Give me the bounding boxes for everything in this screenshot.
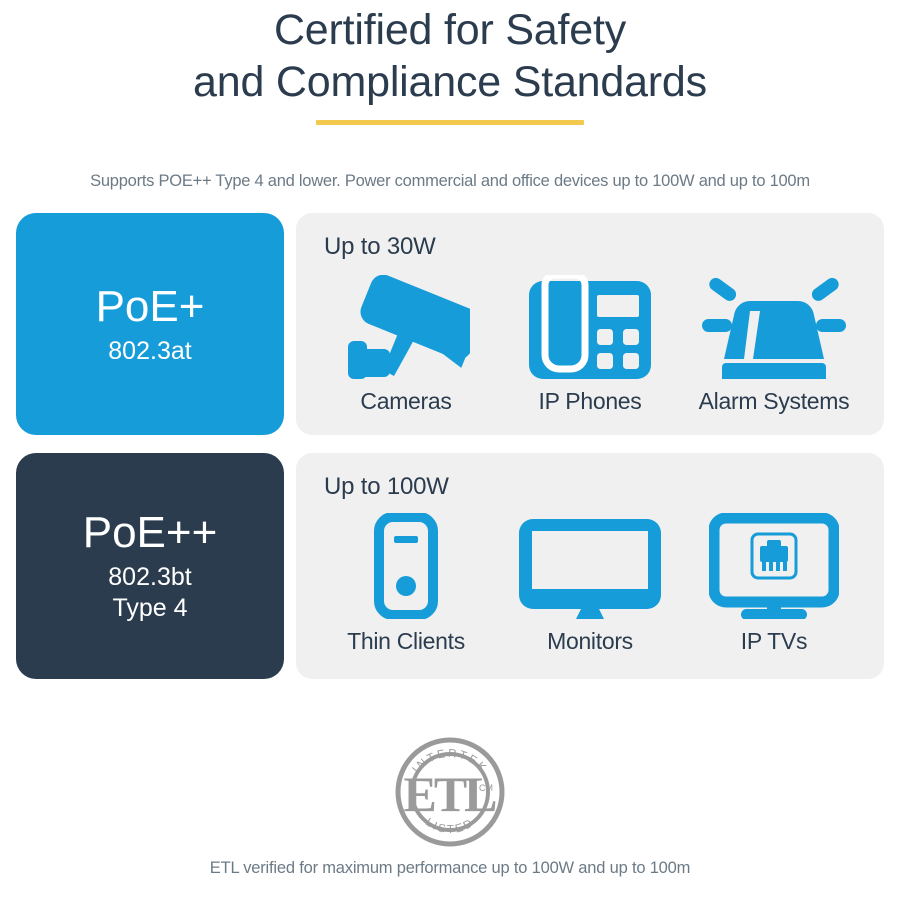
device-cameras: Cameras xyxy=(315,267,497,415)
page-footer: INTERTEK LISTED ETL CM ETL verified for … xyxy=(0,735,900,900)
device-ip-tvs: IP TVs xyxy=(683,507,865,655)
ip-tv-icon xyxy=(709,507,839,619)
poe-plus-power-heading: Up to 30W xyxy=(324,233,866,261)
device-label-cameras: Cameras xyxy=(360,388,451,415)
subtitle-text: Supports POE++ Type 4 and lower. Power c… xyxy=(0,172,900,191)
device-monitors: Monitors xyxy=(499,507,681,655)
device-label-thin-clients: Thin Clients xyxy=(347,628,465,655)
poe-plus-plus-badge-standard: 802.3bt Type 4 xyxy=(108,562,191,624)
etl-footer-note: ETL verified for maximum performance up … xyxy=(0,859,900,900)
etl-center-text: ETL xyxy=(403,766,496,822)
device-label-monitors: Monitors xyxy=(547,628,633,655)
etl-logo-wrap: INTERTEK LISTED ETL CM xyxy=(0,735,900,849)
poe-plus-row: PoE+ 802.3at Up to 30W xyxy=(16,213,884,435)
poe-plus-badge-standard: 802.3at xyxy=(108,336,191,367)
security-camera-icon xyxy=(342,267,470,379)
page-header: Certified for Safety and Compliance Stan… xyxy=(0,0,900,125)
poe-plus-device-list: Cameras I xyxy=(314,267,866,415)
poe-plus-plus-type-line: Type 4 xyxy=(108,593,191,624)
poe-tier-rows: PoE+ 802.3at Up to 30W xyxy=(0,213,900,679)
title-accent-bar xyxy=(316,120,584,125)
device-label-alarm-systems: Alarm Systems xyxy=(699,388,850,415)
device-label-ip-phones: IP Phones xyxy=(538,388,641,415)
page-title-line-1: Certified for Safety xyxy=(0,4,900,56)
poe-plus-plus-device-list: Thin Clients Monitors xyxy=(314,507,866,655)
device-ip-phones: IP Phones xyxy=(499,267,681,415)
monitor-icon xyxy=(519,507,661,619)
poe-plus-plus-standard-line-1: 802.3bt xyxy=(108,562,191,593)
poe-plus-badge-title: PoE+ xyxy=(96,282,205,332)
thin-client-tower-icon xyxy=(374,507,438,619)
poe-plus-plus-badge-title: PoE++ xyxy=(83,508,218,558)
ip-phone-icon xyxy=(529,267,651,379)
poe-plus-plus-power-heading: Up to 100W xyxy=(324,473,866,501)
device-alarm-systems: Alarm Systems xyxy=(683,267,865,415)
etl-superscript-text: CM xyxy=(479,783,493,793)
device-label-ip-tvs: IP TVs xyxy=(741,628,807,655)
etl-intertek-listed-icon: INTERTEK LISTED ETL CM xyxy=(393,735,507,849)
poe-plus-plus-row: PoE++ 802.3bt Type 4 Up to 100W xyxy=(16,453,884,679)
poe-plus-plus-badge: PoE++ 802.3bt Type 4 xyxy=(16,453,284,679)
device-thin-clients: Thin Clients xyxy=(315,507,497,655)
poe-plus-device-panel: Up to 30W xyxy=(296,213,884,435)
page-title-line-2: and Compliance Standards xyxy=(0,56,900,108)
poe-plus-badge: PoE+ 802.3at xyxy=(16,213,284,435)
poe-plus-plus-device-panel: Up to 100W Thin Clients xyxy=(296,453,884,679)
alarm-siren-icon xyxy=(694,267,854,379)
